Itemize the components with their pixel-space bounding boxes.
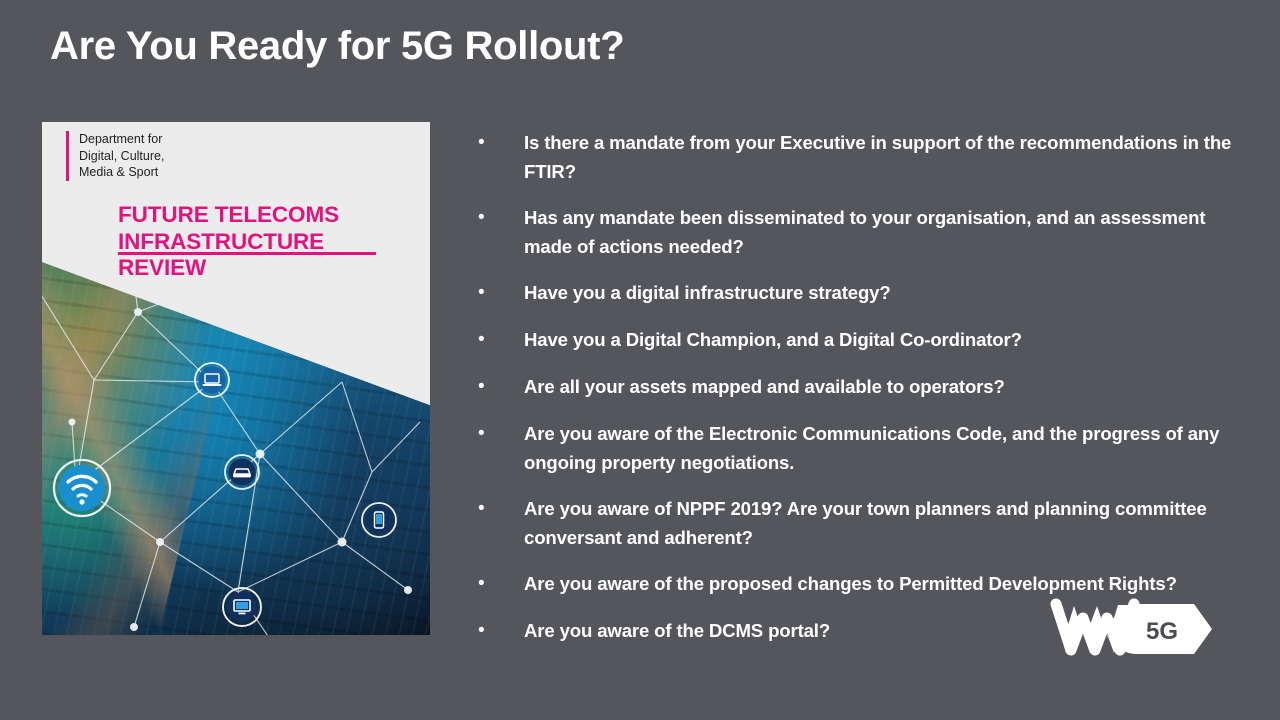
list-item: • Have you a digital infrastructure stra… (465, 278, 1245, 308)
wm-5g-logo: 5G (1044, 598, 1216, 660)
bullet-text: Are you aware of the Electronic Communic… (524, 419, 1245, 477)
bullet-text: Are you aware of the proposed changes to… (524, 569, 1245, 598)
document-cover-image: Department for Digital, Culture, Media &… (42, 122, 430, 635)
bullet-text: Have you a digital infrastructure strate… (524, 278, 1245, 307)
laptop-icon (195, 363, 229, 397)
network-graphic (42, 122, 430, 635)
bullet-text: Is there a mandate from your Executive i… (524, 128, 1245, 186)
bullet-marker: • (465, 372, 524, 402)
list-item: • Are you aware of NPPF 2019? Are your t… (465, 494, 1245, 552)
list-item: • Are you aware of the proposed changes … (465, 569, 1245, 599)
car-icon (225, 455, 259, 489)
list-item: • Are all your assets mapped and availab… (465, 372, 1245, 402)
bullet-marker: • (465, 278, 524, 308)
bullet-marker: • (465, 569, 524, 599)
bullet-marker: • (465, 325, 524, 355)
report-title-line-2: INFRASTRUCTURE REVIEW (118, 229, 418, 282)
bullet-marker: • (465, 616, 524, 646)
wifi-icon (54, 460, 110, 516)
bullet-marker: • (465, 494, 524, 524)
checklist-bullets: • Is there a mandate from your Executive… (465, 128, 1245, 663)
list-item: • Is there a mandate from your Executive… (465, 128, 1245, 186)
report-title-underline (118, 252, 376, 255)
bullet-text: Are all your assets mapped and available… (524, 372, 1245, 401)
dcms-department-label: Department for Digital, Culture, Media &… (66, 131, 164, 181)
list-item: • Are you aware of the Electronic Commun… (465, 419, 1245, 477)
dept-line-1: Department for (79, 131, 164, 148)
bullet-marker: • (465, 203, 524, 233)
bullet-text: Have you a Digital Champion, and a Digit… (524, 325, 1245, 354)
report-title-line-1: FUTURE TELECOMS (118, 202, 418, 229)
bullet-marker: • (465, 128, 524, 158)
list-item: • Have you a Digital Champion, and a Dig… (465, 325, 1245, 355)
report-title: FUTURE TELECOMS INFRASTRUCTURE REVIEW (118, 202, 418, 282)
bullet-text: Are you aware of NPPF 2019? Are your tow… (524, 494, 1245, 552)
page-title: Are You Ready for 5G Rollout? (50, 24, 950, 68)
monitor-icon (223, 588, 261, 626)
bullet-marker: • (465, 419, 524, 449)
dept-line-2: Digital, Culture, (79, 148, 164, 165)
5g-badge-label: 5G (1146, 618, 1178, 645)
bullet-text: Has any mandate been disseminated to you… (524, 203, 1245, 261)
smartphone-icon (362, 503, 396, 537)
list-item: • Has any mandate been disseminated to y… (465, 203, 1245, 261)
dept-line-3: Media & Sport (79, 164, 164, 181)
